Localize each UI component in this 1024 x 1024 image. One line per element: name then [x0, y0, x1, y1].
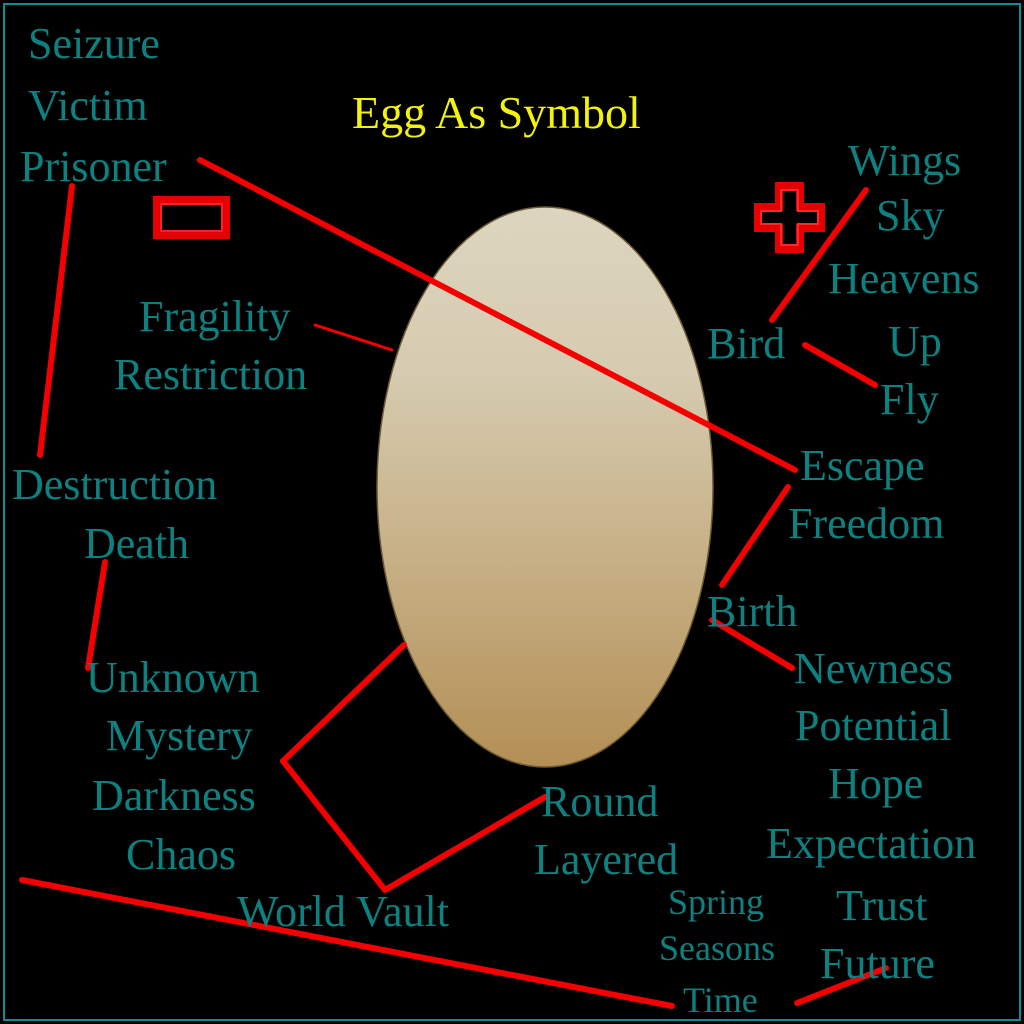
label-round: Round: [541, 780, 658, 824]
label-up: Up: [888, 320, 942, 364]
label-spring: Spring: [668, 884, 764, 920]
label-unknown: Unknown: [86, 656, 260, 700]
label-hope: Hope: [828, 762, 923, 806]
label-trust: Trust: [836, 884, 927, 928]
label-restriction: Restriction: [114, 353, 307, 397]
label-bird: Bird: [707, 322, 785, 366]
connector-mystery-egg: [283, 645, 404, 761]
egg-shape: [377, 207, 713, 767]
connector-fragility-egg: [315, 325, 392, 350]
label-destruction: Destruction: [12, 463, 217, 507]
connector-worldvault-round: [385, 797, 545, 890]
label-darkness: Darkness: [92, 774, 256, 818]
label-escape: Escape: [800, 444, 925, 488]
label-world-vault: World Vault: [237, 890, 449, 934]
label-fragility: Fragility: [139, 295, 291, 339]
egg-as-symbol-poster: Egg As Symbol SeizureVictimPrisonerFragi…: [0, 0, 1024, 1024]
label-victim: Victim: [28, 84, 148, 128]
cross-icon: [758, 186, 821, 249]
label-chaos: Chaos: [126, 833, 236, 877]
label-birth: Birth: [707, 590, 797, 634]
rectangle-icon: [157, 200, 226, 235]
label-seasons: Seasons: [659, 930, 775, 966]
label-time: Time: [683, 982, 758, 1018]
label-potential: Potential: [795, 704, 951, 748]
label-sky: Sky: [876, 194, 944, 238]
label-freedom: Freedom: [788, 502, 944, 546]
label-future: Future: [820, 942, 935, 986]
page-title: Egg As Symbol: [352, 90, 641, 136]
label-seizure: Seizure: [28, 22, 160, 66]
label-layered: Layered: [534, 838, 678, 882]
label-mystery: Mystery: [106, 714, 253, 758]
label-wings: Wings: [848, 139, 961, 183]
connector-escape-birth: [722, 487, 788, 585]
label-prisoner: Prisoner: [20, 145, 167, 189]
connector-mystery-worldvault: [283, 761, 385, 890]
connector-bird-fly: [805, 345, 875, 385]
label-heavens: Heavens: [828, 257, 980, 301]
label-fly: Fly: [880, 378, 939, 422]
label-expectation: Expectation: [766, 822, 976, 866]
connector-prisoner-destruction: [40, 186, 72, 455]
label-newness: Newness: [794, 647, 953, 691]
thin-connector-lines: [315, 325, 392, 350]
label-death: Death: [84, 522, 189, 566]
